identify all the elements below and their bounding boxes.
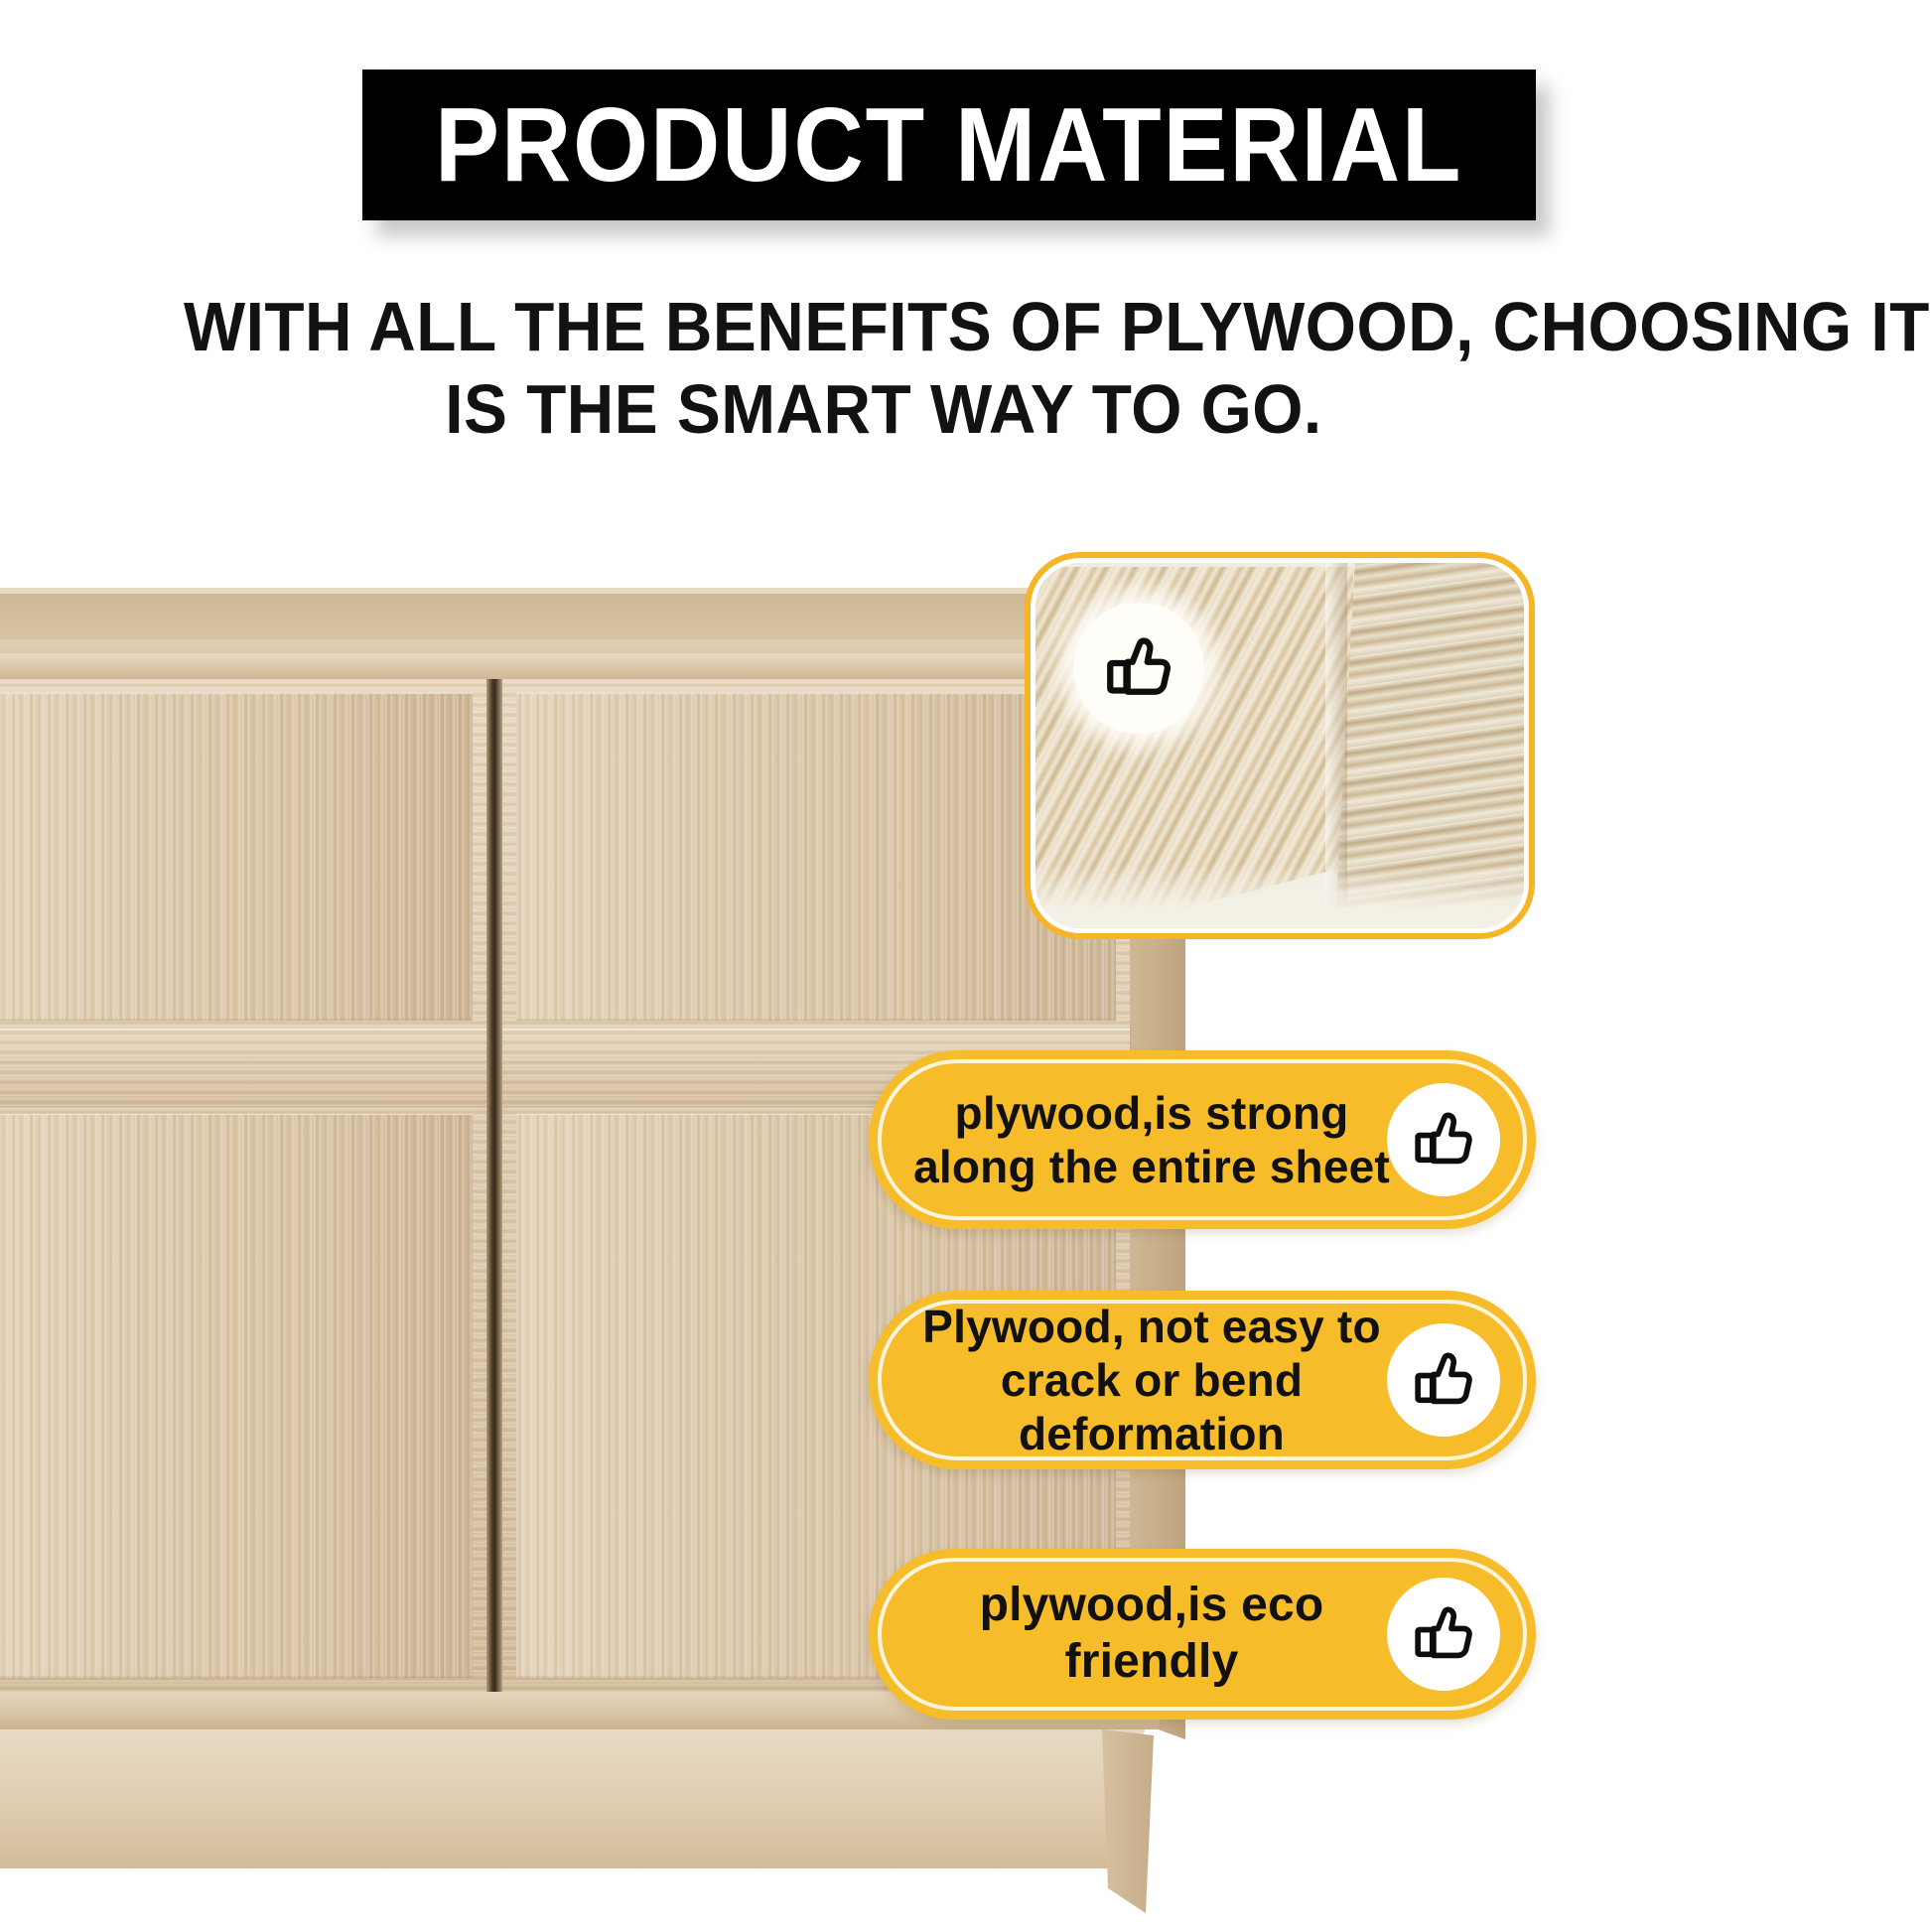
badge-label: plywood,is strong along the entire sheet xyxy=(902,1050,1401,1229)
cabinet-bottom-shelf xyxy=(0,1729,1145,1868)
page-title: PRODUCT MATERIAL xyxy=(435,92,1462,198)
page-title-banner: PRODUCT MATERIAL xyxy=(362,69,1536,220)
subtitle-line-2: IS THE SMART WAY TO GO. xyxy=(184,368,1584,451)
benefit-badge[interactable]: plywood,is strong along the entire sheet xyxy=(869,1050,1536,1229)
plywood-detail-card xyxy=(1025,552,1535,939)
benefit-badge[interactable]: Plywood, not easy to crack or bend defor… xyxy=(869,1291,1536,1469)
door-left-lower-panel xyxy=(0,1114,473,1678)
infographic-canvas: PRODUCT MATERIAL WITH ALL THE BENEFITS O… xyxy=(0,0,1932,1932)
benefit-badge[interactable]: plywood,is eco friendly xyxy=(869,1549,1536,1720)
plywood-card-border xyxy=(1031,558,1529,933)
thumbs-up-icon xyxy=(1387,1323,1500,1437)
plywood-photo-fade xyxy=(1035,865,1524,928)
cabinet-top-edge xyxy=(0,653,1135,679)
cabinet-door-left xyxy=(0,679,486,1692)
cabinet-foot xyxy=(1102,1729,1154,1913)
subtitle-line-1: WITH ALL THE BENEFITS OF PLYWOOD, CHOOSI… xyxy=(184,286,1584,368)
thumbs-up-icon xyxy=(1387,1578,1500,1691)
door-left-mid-rail xyxy=(0,1029,486,1106)
badge-label: Plywood, not easy to crack or bend defor… xyxy=(902,1291,1401,1469)
subtitle-block: WITH ALL THE BENEFITS OF PLYWOOD, CHOOSI… xyxy=(139,286,1628,450)
badge-label: plywood,is eco friendly xyxy=(902,1549,1401,1720)
thumbs-up-icon xyxy=(1073,603,1204,734)
door-left-upper-panel xyxy=(0,693,473,1021)
thumbs-up-icon xyxy=(1387,1083,1500,1196)
cabinet-door-gap xyxy=(486,679,502,1692)
